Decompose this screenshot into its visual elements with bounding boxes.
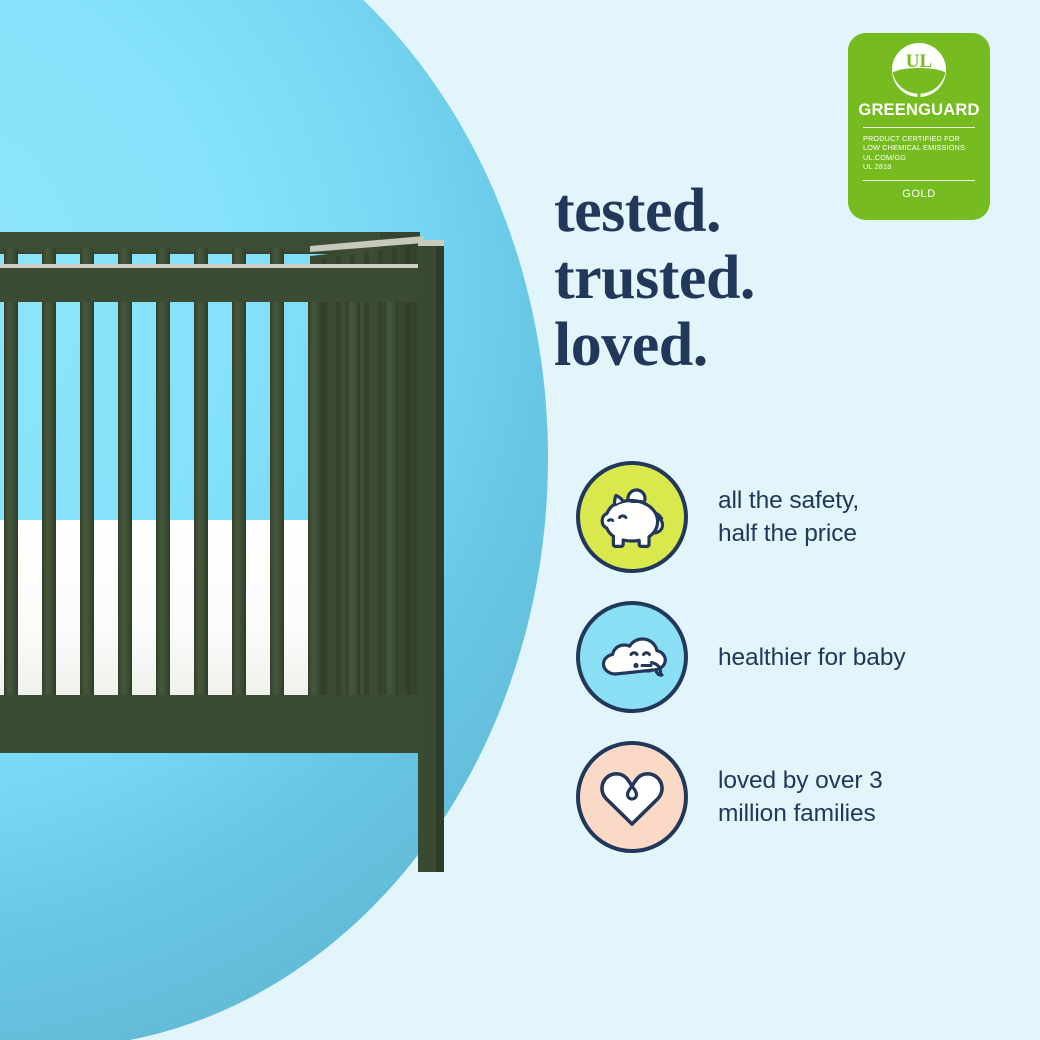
page-title: tested. trusted. loved. bbox=[554, 178, 755, 379]
crib-side-slat bbox=[364, 252, 369, 698]
crib-front-slat bbox=[4, 296, 18, 700]
crib-side-slat bbox=[378, 250, 383, 698]
crib-front-slat bbox=[384, 296, 398, 700]
badge-fine-print: PRODUCT CERTIFIED FOR LOW CHEMICAL EMISS… bbox=[848, 134, 990, 172]
feature-label-line: all the safety, bbox=[718, 484, 859, 517]
heart-icon bbox=[596, 764, 668, 830]
feature-label: all the safety, half the price bbox=[718, 461, 859, 573]
badge-level-label: GOLD bbox=[848, 181, 990, 200]
crib-top-rail bbox=[0, 268, 430, 302]
feature-icon-badge bbox=[576, 601, 688, 713]
crib-front-slat bbox=[156, 296, 170, 700]
crib-side-slat bbox=[322, 258, 327, 698]
feature-label: healthier for baby bbox=[718, 601, 906, 713]
crib-leg-shadow bbox=[436, 750, 444, 872]
crib-product-image bbox=[0, 0, 470, 900]
cloud-breathing-icon bbox=[594, 627, 670, 687]
feature-item-safety-price: all the safety, half the price bbox=[576, 461, 996, 601]
feature-label-line: half the price bbox=[718, 517, 859, 550]
feature-item-loved: loved by over 3 million families bbox=[576, 741, 996, 881]
feature-list: all the safety, half the price bbox=[576, 461, 996, 881]
crib-side-slat bbox=[336, 256, 341, 698]
crib-bottom-rail bbox=[0, 695, 430, 753]
crib-front-slat bbox=[80, 296, 94, 700]
badge-fine-line: PRODUCT CERTIFIED FOR bbox=[863, 134, 990, 143]
crib-side-slat bbox=[406, 246, 411, 698]
crib-front-slat bbox=[42, 296, 56, 700]
badge-brand-name: GREENGUARD bbox=[848, 101, 990, 120]
feature-icon-badge bbox=[576, 741, 688, 853]
badge-fine-line: UL 2818 bbox=[863, 162, 990, 171]
feature-label-line: loved by over 3 bbox=[718, 764, 883, 797]
crib-front-slat bbox=[232, 296, 246, 700]
feature-item-healthier: healthier for baby bbox=[576, 601, 996, 741]
piggy-bank-icon bbox=[595, 484, 669, 550]
crib-front-slat bbox=[194, 296, 208, 700]
greenguard-gold-badge: UL GREENGUARD PRODUCT CERTIFIED FOR LOW … bbox=[848, 33, 990, 220]
crib-front-slat bbox=[308, 296, 322, 700]
badge-fine-line: LOW CHEMICAL EMISSIONS bbox=[863, 143, 990, 152]
feature-label-line: million families bbox=[718, 797, 883, 830]
crib-corner-post-cap bbox=[418, 240, 444, 246]
feature-label-line: healthier for baby bbox=[718, 641, 906, 674]
headline-line-2: trusted. bbox=[554, 245, 755, 312]
crib-front-slat bbox=[270, 296, 284, 700]
svg-text:UL: UL bbox=[906, 51, 932, 72]
marketing-graphic: UL GREENGUARD PRODUCT CERTIFIED FOR LOW … bbox=[0, 0, 1040, 1040]
headline-line-3: loved. bbox=[554, 312, 755, 379]
badge-fine-line: UL.COM/GG bbox=[863, 153, 990, 162]
feature-icon-badge bbox=[576, 461, 688, 573]
ul-greenguard-logo-icon: UL bbox=[890, 41, 948, 99]
crib-front-slat bbox=[118, 296, 132, 700]
badge-divider bbox=[863, 127, 975, 128]
crib-front-slat bbox=[346, 296, 360, 700]
headline-line-1: tested. bbox=[554, 178, 755, 245]
feature-label: loved by over 3 million families bbox=[718, 741, 883, 853]
